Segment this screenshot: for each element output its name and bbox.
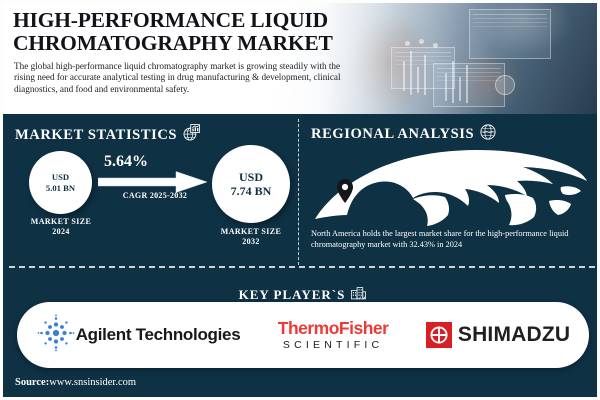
infographic-root: HIGH-PERFORMANCE LIQUID CHROMATOGRAPHY M… bbox=[0, 0, 600, 400]
world-map bbox=[309, 143, 589, 227]
agilent-starburst-icon bbox=[36, 313, 76, 358]
thermofisher-subwordmark: SCIENTIFIC bbox=[283, 340, 383, 351]
regional-analysis-heading-label: REGIONAL ANALYSIS bbox=[311, 126, 474, 143]
key-players-card: Agilent Technologies ThermoFisher SCIENT… bbox=[17, 302, 589, 368]
market-size-2032-caption-line1: MARKET SIZE bbox=[205, 227, 297, 237]
cagr-label: CAGR 2025-2032 bbox=[103, 191, 207, 200]
market-size-2024-caption-line1: MARKET SIZE bbox=[15, 217, 107, 227]
market-size-2024-value: 5.01 BN bbox=[46, 183, 75, 194]
header-banner: HIGH-PERFORMANCE LIQUID CHROMATOGRAPHY M… bbox=[3, 3, 600, 114]
page-title: HIGH-PERFORMANCE LIQUID CHROMATOGRAPHY M… bbox=[13, 9, 373, 55]
source-line: Source:www.snsinsider.com bbox=[15, 377, 136, 388]
agilent-wordmark: Agilent Technologies bbox=[76, 325, 241, 345]
thermofisher-wordmark: ThermoFisher bbox=[278, 320, 389, 338]
market-size-2032-caption: MARKET SIZE 2032 bbox=[205, 227, 297, 247]
cagr-value: 5.64% bbox=[104, 153, 148, 171]
market-size-2032-currency: USD bbox=[239, 170, 263, 184]
source-label: Source: bbox=[15, 377, 49, 388]
company-logo-shimadzu[interactable]: SHIMADZU bbox=[426, 322, 570, 348]
regional-analysis-note: North America holds the largest market s… bbox=[311, 229, 589, 250]
market-statistics-heading: MARKET STATISTICS bbox=[15, 123, 201, 147]
company-logo-thermofisher[interactable]: ThermoFisher SCIENTIFIC bbox=[278, 320, 389, 351]
vertical-divider bbox=[298, 119, 299, 265]
market-size-2024-circle: USD 5.01 BN bbox=[29, 151, 92, 214]
globe-chart-icon bbox=[182, 123, 201, 147]
market-size-2024-caption-line2: 2024 bbox=[15, 227, 107, 237]
market-size-2032-value: 7.74 BN bbox=[231, 184, 272, 198]
growth-arrow-icon bbox=[98, 171, 208, 193]
horizontal-divider bbox=[9, 266, 595, 268]
market-statistics-heading-label: MARKET STATISTICS bbox=[15, 127, 177, 144]
source-url[interactable]: www.snsinsider.com bbox=[49, 377, 136, 388]
key-players-heading-label: KEY PLAYER`S bbox=[239, 287, 346, 303]
market-size-2024-currency: USD bbox=[52, 172, 69, 183]
market-size-2032-circle: USD 7.74 BN bbox=[212, 145, 290, 223]
market-size-2024-caption: MARKET SIZE 2024 bbox=[15, 217, 107, 237]
page-subtitle: The global high-performance liquid chrom… bbox=[14, 61, 344, 95]
shimadzu-wordmark: SHIMADZU bbox=[458, 323, 570, 347]
shimadzu-circle-cross-icon bbox=[426, 322, 452, 348]
company-logo-agilent[interactable]: Agilent Technologies bbox=[36, 313, 241, 358]
market-size-2032-caption-line2: 2032 bbox=[205, 237, 297, 247]
